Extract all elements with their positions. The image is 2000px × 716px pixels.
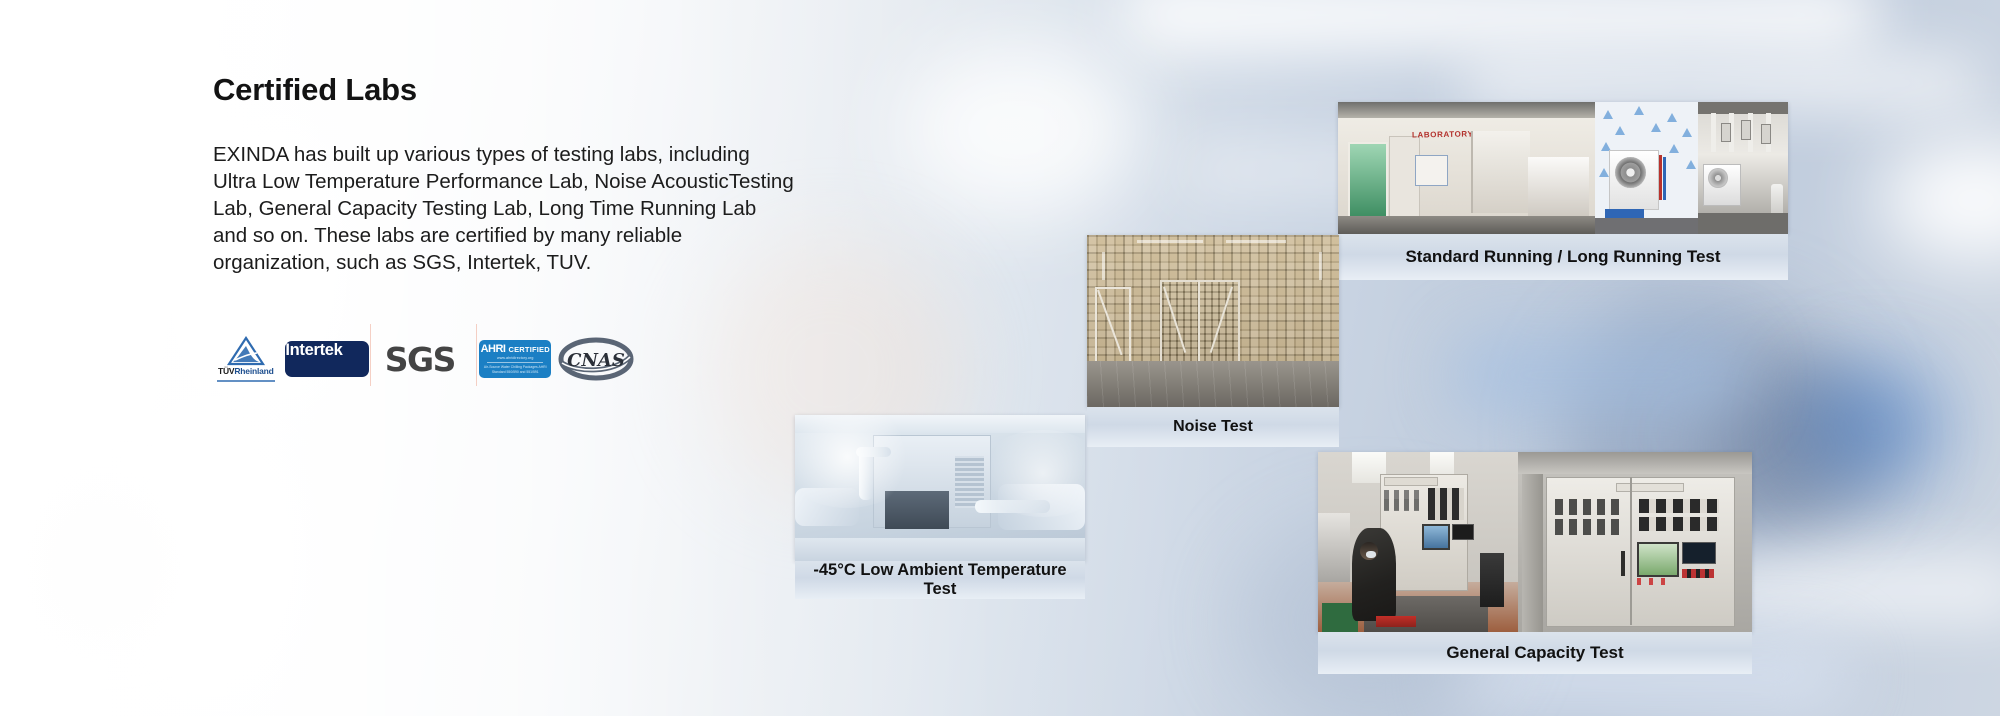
sgs-wordmark: SGS bbox=[385, 340, 465, 379]
ahri-standard-text: Air-Source Water Chilling Packages AHRI … bbox=[482, 365, 548, 375]
ahri-certified-logo: AHRI CERTIFIED www.ahridirectory.org Air… bbox=[472, 331, 558, 387]
svg-text:CNAS: CNAS bbox=[567, 350, 625, 371]
card-low-ambient-temperature-test[interactable]: -45°C Low Ambient Temperature Test bbox=[795, 415, 1085, 561]
section-paragraph: EXINDA has built up various types of tes… bbox=[213, 141, 796, 276]
tuv-wordmark: TÜVRheinland bbox=[218, 367, 274, 376]
card-general-capacity-test[interactable]: General Capacity Test bbox=[1318, 452, 1752, 632]
photo-frosted-cold-chamber bbox=[795, 415, 1085, 561]
sgs-logo: SGS bbox=[377, 331, 472, 387]
certification-logos: TÜVRheinland Intertek SGS AHRI CERTIFIED… bbox=[214, 328, 634, 390]
tuv-triangle-icon bbox=[226, 336, 266, 366]
card-caption: Standard Running / Long Running Test bbox=[1338, 234, 1788, 280]
certified-labs-section: Certified Labs EXINDA has built up vario… bbox=[0, 0, 2000, 716]
tuv-rheinland-logo: TÜVRheinland bbox=[214, 331, 278, 387]
ahri-brand: AHRI bbox=[481, 343, 506, 355]
card-noise-test[interactable]: Noise Test bbox=[1087, 235, 1339, 407]
photo-blue-triangle-test-chamber bbox=[1595, 102, 1699, 234]
card-caption: Noise Test bbox=[1087, 407, 1339, 447]
photo-operator-at-console bbox=[1318, 452, 1518, 632]
cnas-oval-icon: CNAS bbox=[558, 337, 634, 381]
text-column: Certified Labs EXINDA has built up vario… bbox=[213, 72, 813, 276]
photo-laboratory-hall: LABORATORY bbox=[1338, 102, 1595, 234]
photo-anechoic-chamber bbox=[1087, 235, 1339, 407]
tuv-underline bbox=[217, 380, 275, 382]
photo-outdoor-unit-test-rig bbox=[1698, 102, 1788, 234]
laboratory-sign-text: LABORATORY bbox=[1412, 129, 1474, 139]
cnas-logo: CNAS bbox=[558, 337, 634, 381]
intertek-wordmark: Intertek bbox=[285, 341, 369, 377]
card-caption: -45°C Low Ambient Temperature Test bbox=[795, 561, 1085, 599]
card-caption: General Capacity Test bbox=[1318, 632, 1752, 674]
ahri-certified-label: CERTIFIED bbox=[508, 345, 549, 354]
intertek-logo: Intertek bbox=[278, 331, 377, 387]
ahri-directory-url: www.ahridirectory.org bbox=[497, 356, 533, 360]
card-standard-running-long-running-test[interactable]: LABORATORY bbox=[1338, 102, 1788, 234]
page-title: Certified Labs bbox=[213, 72, 813, 108]
photo-control-cabinet bbox=[1518, 452, 1752, 632]
